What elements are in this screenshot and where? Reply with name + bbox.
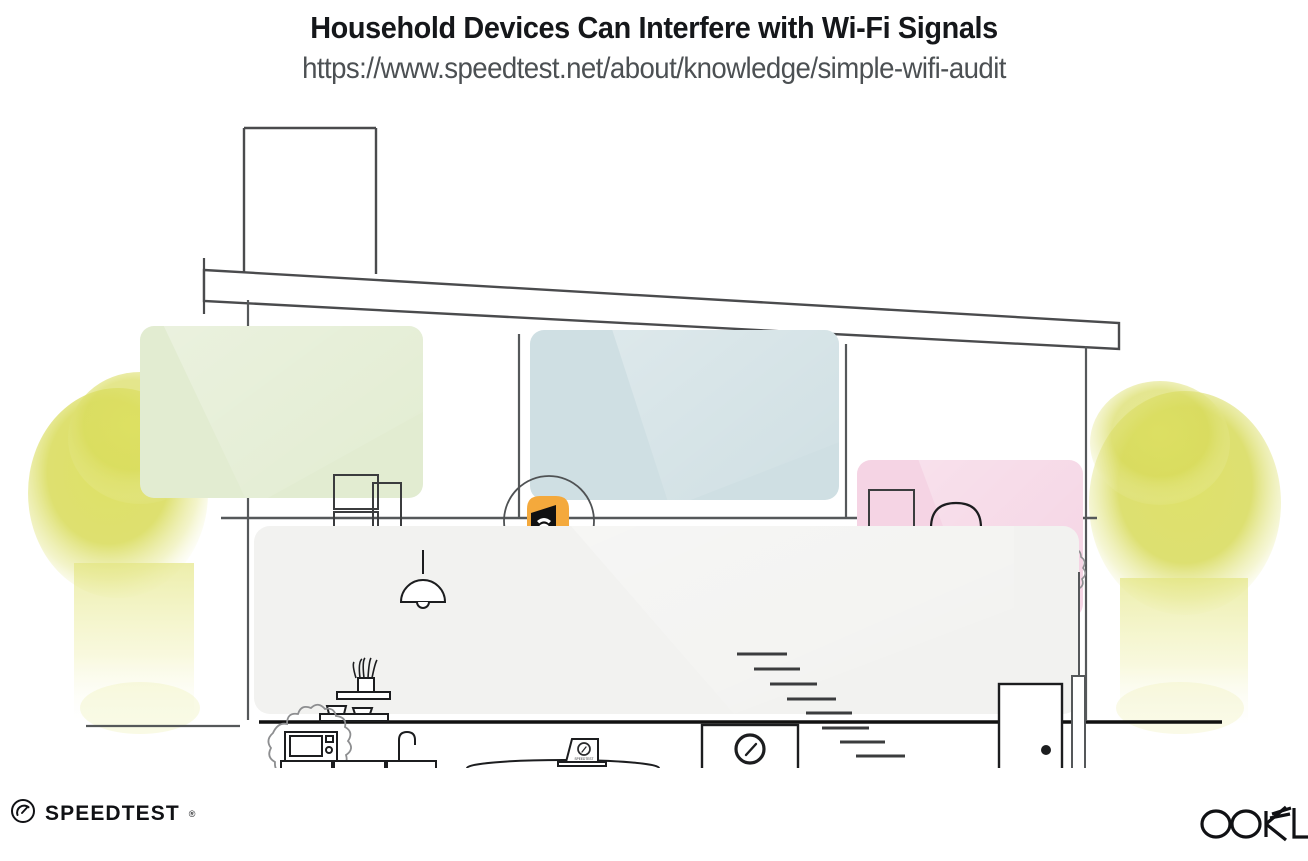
source-url: https://www.speedtest.net/about/knowledg… <box>52 52 1255 86</box>
kitchen-counters <box>281 761 436 768</box>
house-illustration: SPEEDTEST <box>0 108 1308 768</box>
page-title: Household Devices Can Interfere with Wi-… <box>46 10 1262 46</box>
speedtest-wordmark: SPEEDTEST <box>45 802 180 826</box>
laptop-speedtest[interactable]: SPEEDTEST <box>558 739 606 766</box>
footer: SPEEDTEST ® <box>0 790 1308 850</box>
speedometer-icon <box>10 798 36 829</box>
kitchen-shelf-upper <box>337 692 390 699</box>
television-speedtest[interactable]: SPEEDTEST <box>702 725 798 768</box>
speedtest-logo[interactable]: SPEEDTEST ® <box>10 798 195 829</box>
tree-right <box>1089 381 1281 734</box>
microwave[interactable] <box>285 732 337 761</box>
laptop-screen-label: SPEEDTEST <box>575 757 594 761</box>
ookla-logo[interactable] <box>1198 802 1308 846</box>
chimney <box>244 128 376 274</box>
poster-page: Household Devices Can Interfere with Wi-… <box>0 0 1308 861</box>
header: Household Devices Can Interfere with Wi-… <box>0 0 1308 86</box>
front-door[interactable] <box>999 684 1062 768</box>
sink-faucet <box>399 732 415 761</box>
door-knob <box>1041 745 1051 755</box>
speedtest-trademark: ® <box>189 809 196 819</box>
room-living-kitchen: SPEEDTEST <box>254 518 1085 768</box>
